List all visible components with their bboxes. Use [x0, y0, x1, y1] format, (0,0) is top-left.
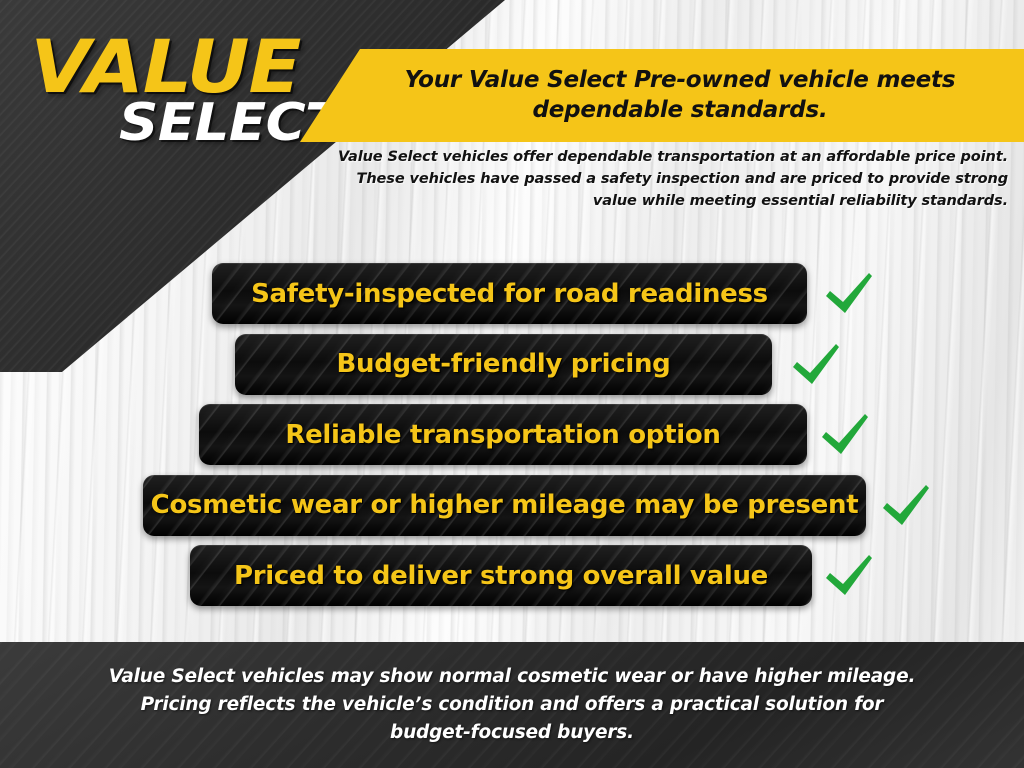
brand-logo-value: VALUE [24, 34, 363, 101]
feature-row: Priced to deliver strong overall value [0, 541, 1024, 612]
feature-label: Cosmetic wear or higher mileage may be p… [151, 490, 859, 520]
feature-list: Safety-inspected for road readiness Budg… [0, 259, 1024, 612]
feature-label: Budget-friendly pricing [336, 349, 670, 379]
footer-text: Value Select vehicles may show normal co… [107, 663, 917, 747]
headline-text: Your Value Select Pre-owned vehicle meet… [380, 66, 980, 126]
feature-row: Cosmetic wear or higher mileage may be p… [0, 471, 1024, 542]
headline-banner: Your Value Select Pre-owned vehicle meet… [300, 49, 1024, 142]
feature-bar: Cosmetic wear or higher mileage may be p… [143, 475, 866, 536]
green-check-icon [822, 551, 876, 601]
feature-bar: Priced to deliver strong overall value [190, 545, 812, 606]
description-paragraph: Value Select vehicles offer dependable t… [318, 146, 1008, 212]
feature-label: Safety-inspected for road readiness [251, 279, 768, 309]
feature-label: Priced to deliver strong overall value [234, 561, 768, 591]
brand-logo: VALUE SELECT [24, 34, 344, 149]
feature-bar: Reliable transportation option [199, 404, 807, 465]
feature-row: Budget-friendly pricing [0, 330, 1024, 401]
feature-row: Reliable transportation option [0, 400, 1024, 471]
green-check-icon [789, 340, 843, 390]
footer-band: Value Select vehicles may show normal co… [0, 642, 1024, 768]
green-check-icon [818, 410, 872, 460]
value-select-banner: VALUE SELECT Your Value Select Pre-owned… [0, 0, 1024, 768]
feature-row: Safety-inspected for road readiness [0, 259, 1024, 330]
green-check-icon [879, 481, 933, 531]
brand-logo-select: SELECT [8, 97, 344, 149]
green-check-icon [822, 269, 876, 319]
feature-bar: Budget-friendly pricing [235, 334, 772, 395]
feature-bar: Safety-inspected for road readiness [212, 263, 807, 324]
feature-label: Reliable transportation option [285, 420, 720, 450]
